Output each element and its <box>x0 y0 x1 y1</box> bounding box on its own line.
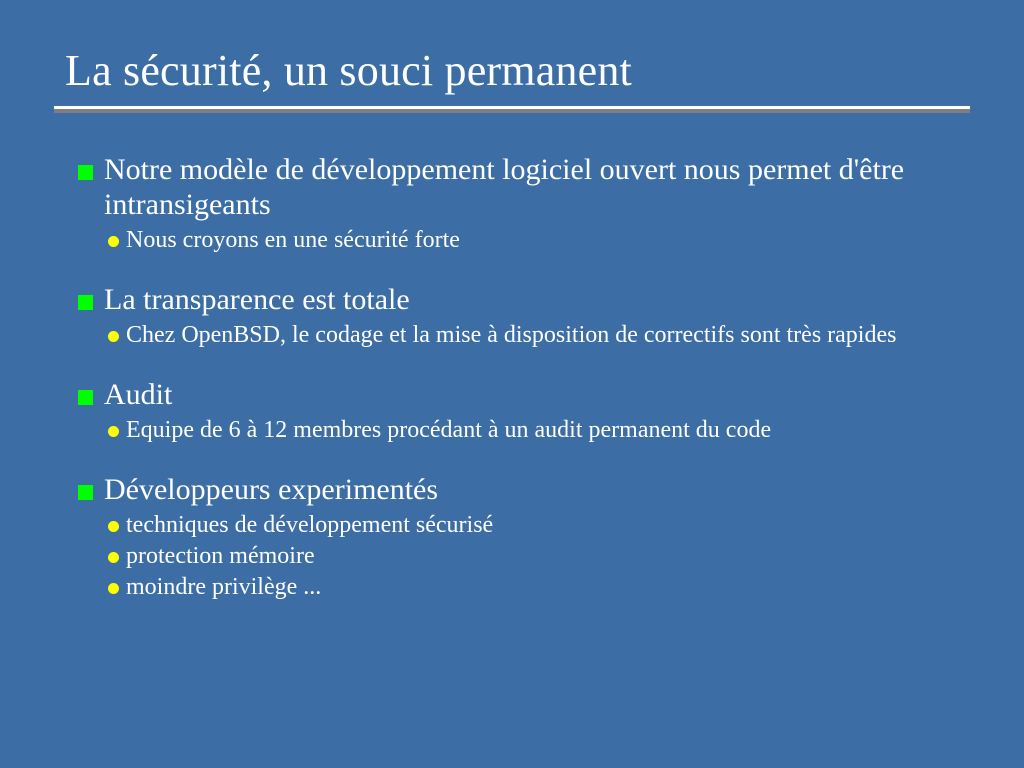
square-bullet-icon <box>78 165 93 180</box>
bullet-group: Audit Equipe de 6 à 12 membres procédant… <box>0 377 1024 446</box>
bullet-level1: La transparence est totale <box>0 282 1024 317</box>
title-block: La sécurité, un souci permanent <box>54 44 970 113</box>
bullet-level2-list: Chez OpenBSD, le codage et la mise à dis… <box>0 320 1024 351</box>
bullet-level1-label: Audit <box>104 377 984 412</box>
slide: La sécurité, un souci permanent Notre mo… <box>0 0 1024 768</box>
bullet-level2: Nous croyons en une sécurité forte <box>0 225 1024 256</box>
bullet-level1: Développeurs experimentés <box>0 472 1024 507</box>
bullet-level2-label: protection mémoire <box>126 541 964 572</box>
dot-bullet-icon <box>108 521 119 532</box>
bullet-level2-label: Nous croyons en une sécurité forte <box>126 225 964 256</box>
bullet-level1-label: Notre modèle de développement logiciel o… <box>104 152 984 222</box>
bullet-level2-label: moindre privilège ... <box>126 572 964 603</box>
dot-bullet-icon <box>108 552 119 563</box>
bullet-level2-list: Nous croyons en une sécurité forte <box>0 225 1024 256</box>
bullet-level1: Notre modèle de développement logiciel o… <box>0 152 1024 222</box>
dot-bullet-icon <box>108 426 119 437</box>
dot-bullet-icon <box>108 583 119 594</box>
dot-bullet-icon <box>108 331 119 342</box>
bullet-level2-label: techniques de développement sécurisé <box>126 510 964 541</box>
bullet-level2: techniques de développement sécurisé <box>0 510 1024 541</box>
bullet-level2-list: Equipe de 6 à 12 membres procédant à un … <box>0 415 1024 446</box>
slide-content: Notre modèle de développement logiciel o… <box>0 152 1024 603</box>
bullet-level1-label: La transparence est totale <box>104 282 984 317</box>
bullet-group: Développeurs experimentés techniques de … <box>0 472 1024 603</box>
dot-bullet-icon <box>108 236 119 247</box>
bullet-group: La transparence est totale Chez OpenBSD,… <box>0 282 1024 351</box>
square-bullet-icon <box>78 295 93 310</box>
square-bullet-icon <box>78 390 93 405</box>
bullet-level2: moindre privilège ... <box>0 572 1024 603</box>
bullet-level2-list: techniques de développement sécurisé pro… <box>0 510 1024 603</box>
bullet-group: Notre modèle de développement logiciel o… <box>0 152 1024 256</box>
title-divider-shadow <box>54 109 970 113</box>
bullet-level2-label: Chez OpenBSD, le codage et la mise à dis… <box>126 320 964 351</box>
bullet-level2: protection mémoire <box>0 541 1024 572</box>
bullet-level2-label: Equipe de 6 à 12 membres procédant à un … <box>126 415 964 446</box>
bullet-level2: Chez OpenBSD, le codage et la mise à dis… <box>0 320 1024 351</box>
bullet-level1: Audit <box>0 377 1024 412</box>
bullet-level1-label: Développeurs experimentés <box>104 472 984 507</box>
bullet-level2: Equipe de 6 à 12 membres procédant à un … <box>0 415 1024 446</box>
square-bullet-icon <box>78 485 93 500</box>
title-divider <box>54 106 970 113</box>
page-title: La sécurité, un souci permanent <box>65 44 970 98</box>
